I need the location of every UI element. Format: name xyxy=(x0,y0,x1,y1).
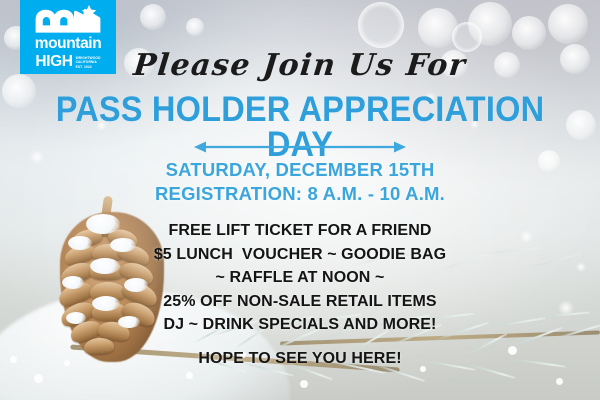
offer-line: DJ ~ DRINK SPECIALS AND MORE! xyxy=(0,313,600,337)
offer-line: FREE LIFT TICKET FOR A FRIEND xyxy=(0,219,600,243)
closing-message: HOPE TO SEE YOU HERE! xyxy=(0,347,600,371)
mh-monogram-icon xyxy=(32,5,104,35)
invitation-script-text: Please Join Us For xyxy=(0,48,600,83)
spacer xyxy=(0,337,600,347)
promotional-poster: mountain HIGH WRIGHTWOOD CALIFORNIA EST.… xyxy=(0,0,600,400)
event-date: SATURDAY, DECEMBER 15TH xyxy=(0,158,600,182)
poster-content: Please Join Us For PASS HOLDER APPRECIAT… xyxy=(0,0,600,400)
offer-line: 25% OFF NON-SALE RETAIL ITEMS xyxy=(0,290,600,314)
event-registration: REGISTRATION: 8 A.M. - 10 A.M. xyxy=(0,182,600,206)
offer-line: ~ RAFFLE AT NOON ~ xyxy=(0,266,600,290)
offer-line: $5 LUNCH VOUCHER ~ GOODIE BAG xyxy=(0,243,600,267)
event-datetime: SATURDAY, DECEMBER 15TH REGISTRATION: 8 … xyxy=(0,158,600,205)
offers-list: FREE LIFT TICKET FOR A FRIEND $5 LUNCH V… xyxy=(0,219,600,370)
double-arrow-icon xyxy=(194,140,406,154)
arrow-divider xyxy=(0,140,600,154)
